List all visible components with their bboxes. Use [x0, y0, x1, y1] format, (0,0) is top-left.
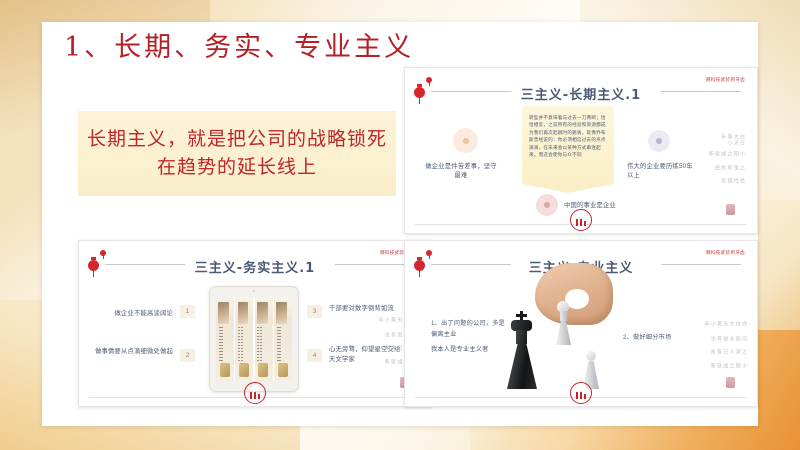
- slide-note-1: 1、出了问题的公司，多是偏离主业: [431, 319, 509, 340]
- slide-thumbnail-zhuanye[interactable]: 三主义-专业主义 哪科技武装到牙齿 1、出了问题的公司，多是偏离主业 我本人是专…: [404, 240, 758, 407]
- calligraphy-col-2: 之漠人已各永: [703, 349, 747, 359]
- white-pawn-icon: [555, 301, 572, 345]
- calligraphy-col-2: 之是有的经: [708, 165, 746, 175]
- company-logo-icon: [570, 209, 592, 231]
- calligraphy-block: 恰恰相反 之是有的经 小阳之成就新 白日大天美小年: [708, 134, 746, 186]
- company-logo-icon: [244, 382, 266, 404]
- watermark-text: 哪科技武装到牙齿: [706, 77, 745, 83]
- bullet-dot-pink: [536, 194, 558, 216]
- bullet-label-2: 伟大的企业要历练50年以上: [627, 162, 693, 181]
- title-rule-right: [661, 264, 741, 265]
- slide-thumbnail-changqi[interactable]: 三主义-长期主义.1 哪科技武装到牙齿 转型并不意味着与过去一刀两断；恰恰相反，…: [404, 67, 758, 234]
- list-item-text-1: 做企业不能高谈阔论: [95, 309, 173, 319]
- title-rule-right: [661, 91, 741, 92]
- calligraphy-col-3: 河知水是有法: [703, 336, 747, 346]
- bullet-label-1: 做企业是件苦差事，坚守最难: [425, 162, 497, 181]
- list-item-text-2: 做事情要从点滴细微处做起: [95, 347, 173, 357]
- bullet-dot-peach: [453, 128, 478, 153]
- calligraphy-block: 小阳之成就新 之漠人已各永 河知水是有法 白白大天美小年: [703, 321, 747, 373]
- slide-note-box: 转型并不意味着与过去一刀两断；恰恰相反，之前所有的经验和资源都成为我们再次起跳时…: [522, 106, 614, 184]
- calligraphy-col-1: 小阳之成就新: [703, 363, 747, 373]
- hand-illustration: [535, 263, 613, 325]
- list-item-number-4: 4: [307, 349, 322, 362]
- slide-title: 三主义-长期主义.1: [405, 84, 757, 103]
- seal-stamp-icon: [726, 204, 735, 215]
- slide-note-3: 2、做好细分市场: [623, 333, 705, 344]
- list-item-number-3: 3: [307, 305, 322, 318]
- slide-note-2: 我本人是专业主义者: [431, 345, 523, 356]
- company-logo-icon: [570, 382, 592, 404]
- calligraphy-col-4: 白日大天美小年: [708, 134, 746, 148]
- presentation-page: 1、长期、务实、专业主义 长期主义，就是把公司的战略锁死在趋势的延长线上 三主义…: [0, 0, 800, 450]
- list-item-number-2: 2: [180, 349, 195, 362]
- slide-title: 三主义-务实主义.1: [79, 257, 431, 276]
- tablet-illustration: [209, 286, 299, 392]
- calligraphy-col-1: 恰恰相反: [708, 178, 746, 186]
- watermark-text: 哪科技武装到牙齿: [706, 250, 745, 256]
- title-rule-right: [335, 264, 415, 265]
- page-title: 1、长期、务实、专业主义: [64, 34, 414, 61]
- slide-thumbnail-wushi[interactable]: 三主义-务实主义.1 哪科技武装到牙齿 做企业不能高谈阔论 1 做事情要从点滴细…: [78, 240, 432, 407]
- seal-stamp-icon: [726, 377, 735, 388]
- quote-text: 长期主义，就是把公司的战略锁死在趋势的延长线上: [78, 126, 396, 181]
- calligraphy-col-4: 白白大天美小年: [703, 321, 747, 333]
- quote-card: 长期主义，就是把公司的战略锁死在趋势的延长线上: [78, 111, 396, 196]
- list-item-text-3: 干部要对数字倒背如流: [329, 304, 403, 314]
- content-sheet: 1、长期、务实、专业主义 长期主义，就是把公司的战略锁死在趋势的延长线上 三主义…: [42, 22, 758, 426]
- list-item-number-1: 1: [180, 305, 195, 318]
- calligraphy-col-3: 小阳之成就新: [708, 151, 746, 163]
- bullet-dot-lavender: [648, 130, 670, 152]
